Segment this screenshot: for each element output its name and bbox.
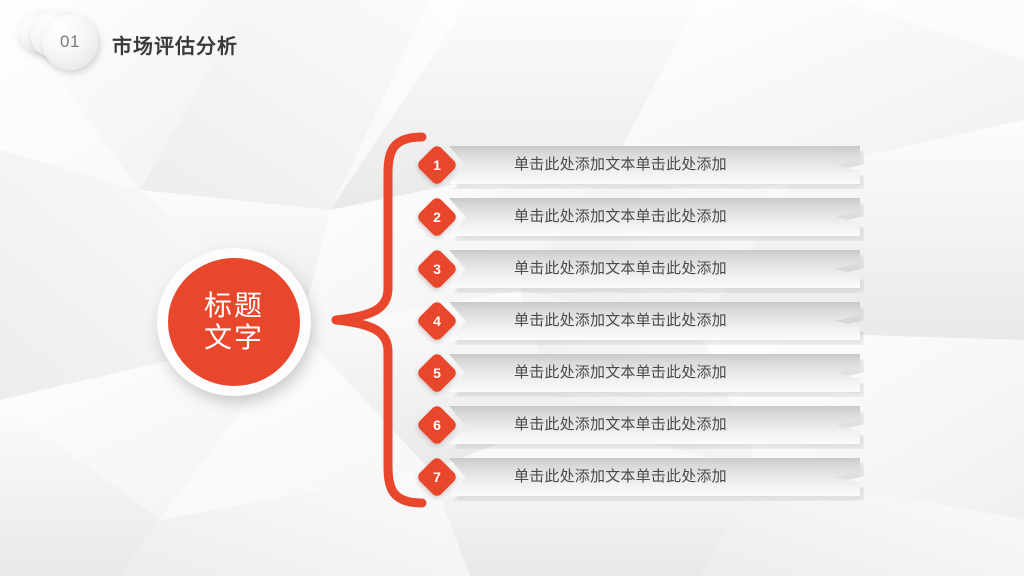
row-number-badge <box>416 352 458 394</box>
center-circle-disc: 标题 文字 <box>168 258 300 386</box>
row-text: 单击此处添加文本单击此处添加 <box>514 302 727 340</box>
header-circle-front: 01 <box>42 14 98 70</box>
row-number-badge <box>416 456 458 498</box>
header-section-number: 01 <box>60 32 80 52</box>
page-title: 市场评估分析 <box>112 30 238 59</box>
row-text: 单击此处添加文本单击此处添加 <box>514 198 727 236</box>
row-text: 单击此处添加文本单击此处添加 <box>514 458 727 496</box>
center-title-circle[interactable]: 标题 文字 <box>157 248 311 396</box>
list-item[interactable]: 4 单击此处添加文本单击此处添加 <box>422 302 860 342</box>
row-text: 单击此处添加文本单击此处添加 <box>514 406 727 444</box>
list-item[interactable]: 3 单击此处添加文本单击此处添加 <box>422 250 860 290</box>
slide-canvas: 01 市场评估分析 标题 文字 1 单击此处添加文本单击此处添加 2 单击此处添… <box>0 0 1024 576</box>
row-text: 单击此处添加文本单击此处添加 <box>514 250 727 288</box>
row-text: 单击此处添加文本单击此处添加 <box>514 146 727 184</box>
row-number-badge <box>416 248 458 290</box>
row-number-badge <box>416 300 458 342</box>
row-number-badge <box>416 196 458 238</box>
center-title-line2: 文字 <box>204 322 264 354</box>
list-item[interactable]: 2 单击此处添加文本单击此处添加 <box>422 198 860 238</box>
list-item[interactable]: 6 单击此处添加文本单击此处添加 <box>422 406 860 446</box>
center-title-line1: 标题 <box>204 290 264 322</box>
list-item[interactable]: 7 单击此处添加文本单击此处添加 <box>422 458 860 498</box>
list-item[interactable]: 5 单击此处添加文本单击此处添加 <box>422 354 860 394</box>
list-item[interactable]: 1 单击此处添加文本单击此处添加 <box>422 146 860 186</box>
row-number-badge <box>416 144 458 186</box>
row-text: 单击此处添加文本单击此处添加 <box>514 354 727 392</box>
row-number-badge <box>416 404 458 446</box>
